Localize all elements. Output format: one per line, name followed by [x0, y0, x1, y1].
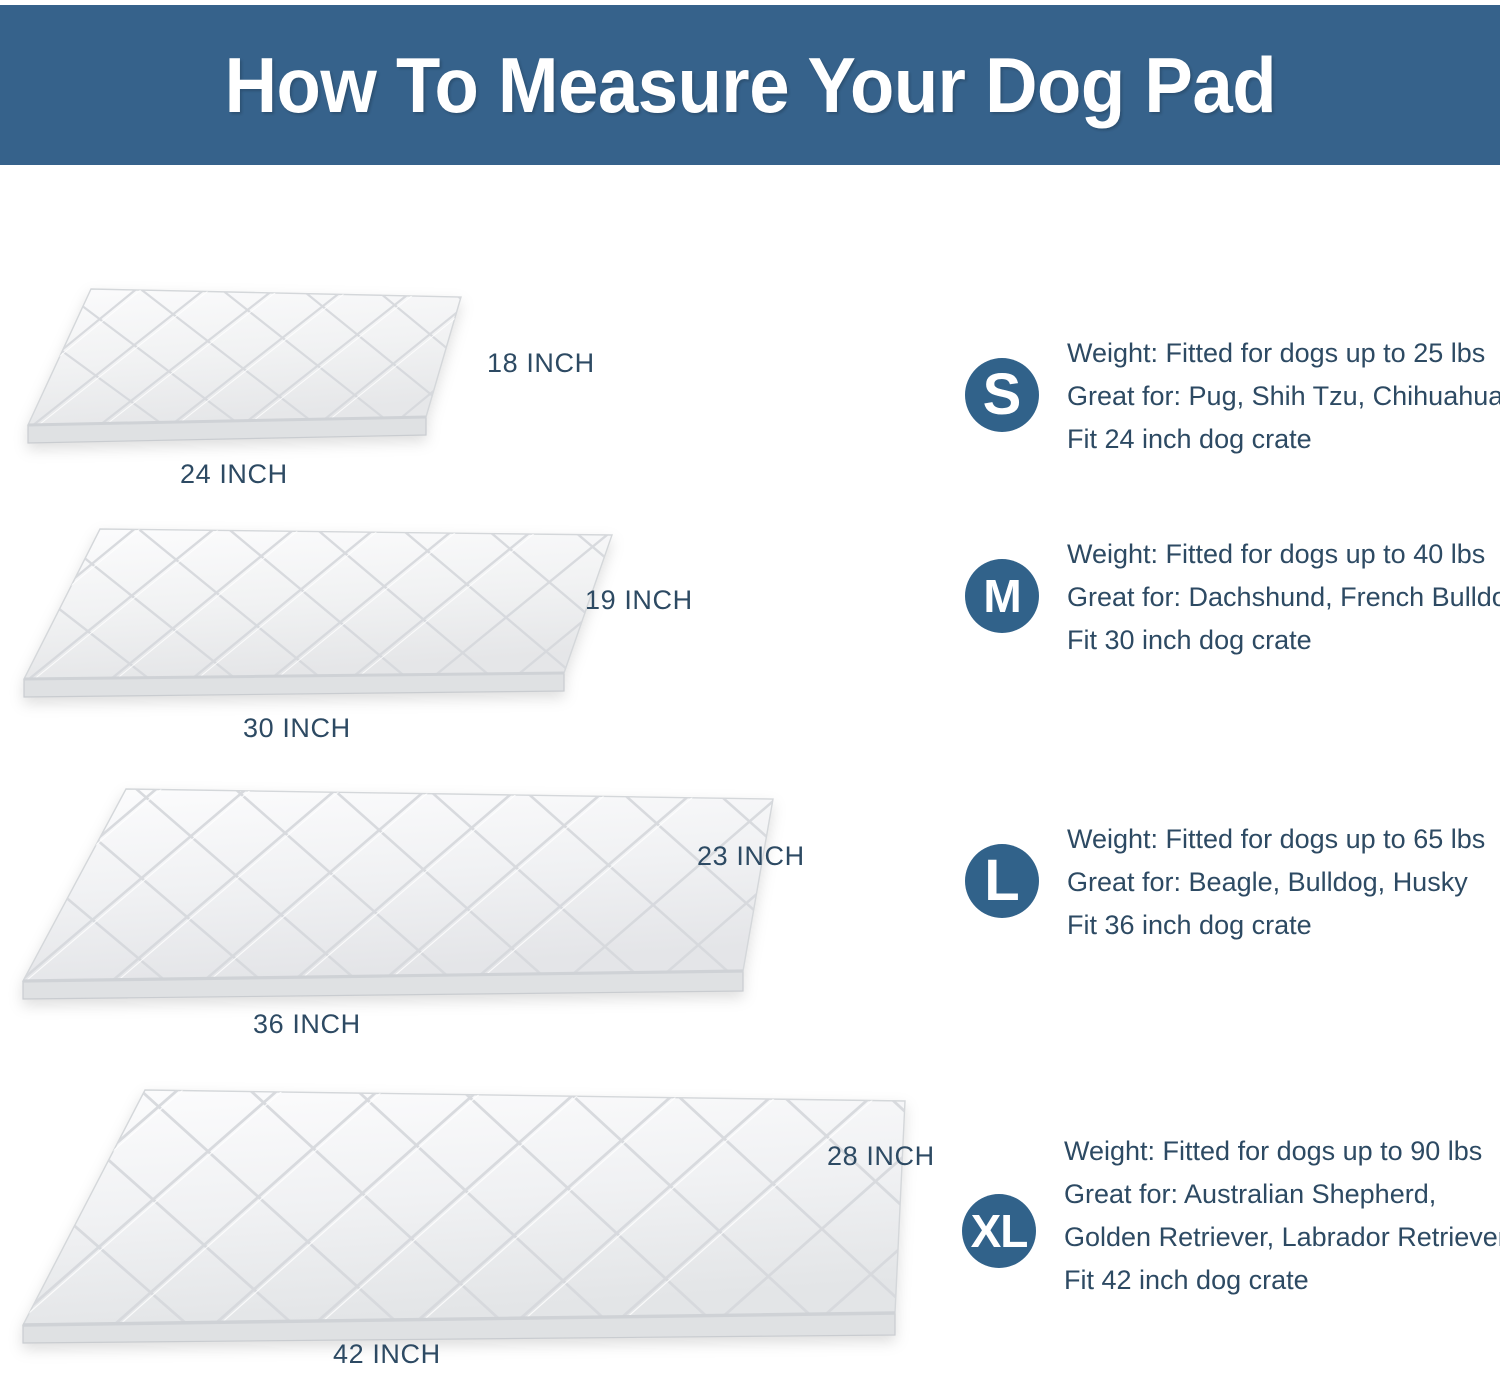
- size-greatfor-line: Great for: Beagle, Bulldog, Husky: [1067, 861, 1485, 904]
- size-description-s: Weight: Fitted for dogs up to 25 lbs Gre…: [1067, 332, 1500, 461]
- size-weight-line: Weight: Fitted for dogs up to 25 lbs: [1067, 332, 1500, 375]
- size-block-l: L Weight: Fitted for dogs up to 65 lbs G…: [965, 818, 1485, 947]
- quilted-pad-illustration: [5, 1085, 955, 1350]
- dim-depth-s: 18 INCH: [487, 348, 595, 379]
- size-crate-line: Fit 42 inch dog crate: [1064, 1259, 1500, 1302]
- pad-svg-xl: [5, 1085, 955, 1350]
- size-greatfor-line: Great for: Australian Shepherd,: [1064, 1173, 1500, 1216]
- dim-width-s: 24 INCH: [180, 459, 288, 490]
- dim-width-l: 36 INCH: [253, 1009, 361, 1040]
- size-description-l: Weight: Fitted for dogs up to 65 lbs Gre…: [1067, 818, 1485, 947]
- size-weight-line: Weight: Fitted for dogs up to 90 lbs: [1064, 1130, 1500, 1173]
- dim-depth-l: 23 INCH: [697, 841, 805, 872]
- size-greatfor-line: Great for: Pug, Shih Tzu, Chihuahua: [1067, 375, 1500, 418]
- quilted-pad-illustration: [18, 285, 473, 450]
- size-block-m: M Weight: Fitted for dogs up to 40 lbs G…: [965, 533, 1500, 662]
- size-badge-s: S: [965, 358, 1039, 432]
- pad-svg-l: [8, 785, 798, 1005]
- dim-depth-xl: 28 INCH: [827, 1141, 935, 1172]
- size-badge-xl: XL: [962, 1194, 1036, 1268]
- size-crate-line: Fit 36 inch dog crate: [1067, 904, 1485, 947]
- size-weight-line: Weight: Fitted for dogs up to 65 lbs: [1067, 818, 1485, 861]
- pad-svg-s: [18, 285, 473, 450]
- size-block-xl: XL Weight: Fitted for dogs up to 90 lbs …: [962, 1130, 1500, 1302]
- dim-depth-m: 19 INCH: [585, 585, 693, 616]
- pad-image-s: [18, 285, 473, 450]
- infographic-page: How To Measure Your Dog Pad: [0, 0, 1500, 1373]
- size-badge-l: L: [965, 844, 1039, 918]
- size-description-m: Weight: Fitted for dogs up to 40 lbs Gre…: [1067, 533, 1500, 662]
- quilted-pad-illustration: [12, 525, 632, 705]
- quilted-pad-illustration: [8, 785, 798, 1005]
- size-greatfor-line: Great for: Dachshund, French Bulldog: [1067, 576, 1500, 619]
- pad-image-l: [8, 785, 798, 1005]
- pad-image-m: [12, 525, 632, 705]
- size-badge-m: M: [965, 559, 1039, 633]
- size-greatfor-line-2: Golden Retriever, Labrador Retriever: [1064, 1216, 1500, 1259]
- dim-width-xl: 42 INCH: [333, 1339, 441, 1370]
- size-block-s: S Weight: Fitted for dogs up to 25 lbs G…: [965, 332, 1500, 461]
- size-description-xl: Weight: Fitted for dogs up to 90 lbs Gre…: [1064, 1130, 1500, 1302]
- size-crate-line: Fit 30 inch dog crate: [1067, 619, 1500, 662]
- header-banner: How To Measure Your Dog Pad: [0, 5, 1500, 165]
- pad-svg-m: [12, 525, 632, 705]
- page-title: How To Measure Your Dog Pad: [224, 40, 1275, 131]
- pad-image-xl: [5, 1085, 955, 1350]
- size-weight-line: Weight: Fitted for dogs up to 40 lbs: [1067, 533, 1500, 576]
- dim-width-m: 30 INCH: [243, 713, 351, 744]
- size-crate-line: Fit 24 inch dog crate: [1067, 418, 1500, 461]
